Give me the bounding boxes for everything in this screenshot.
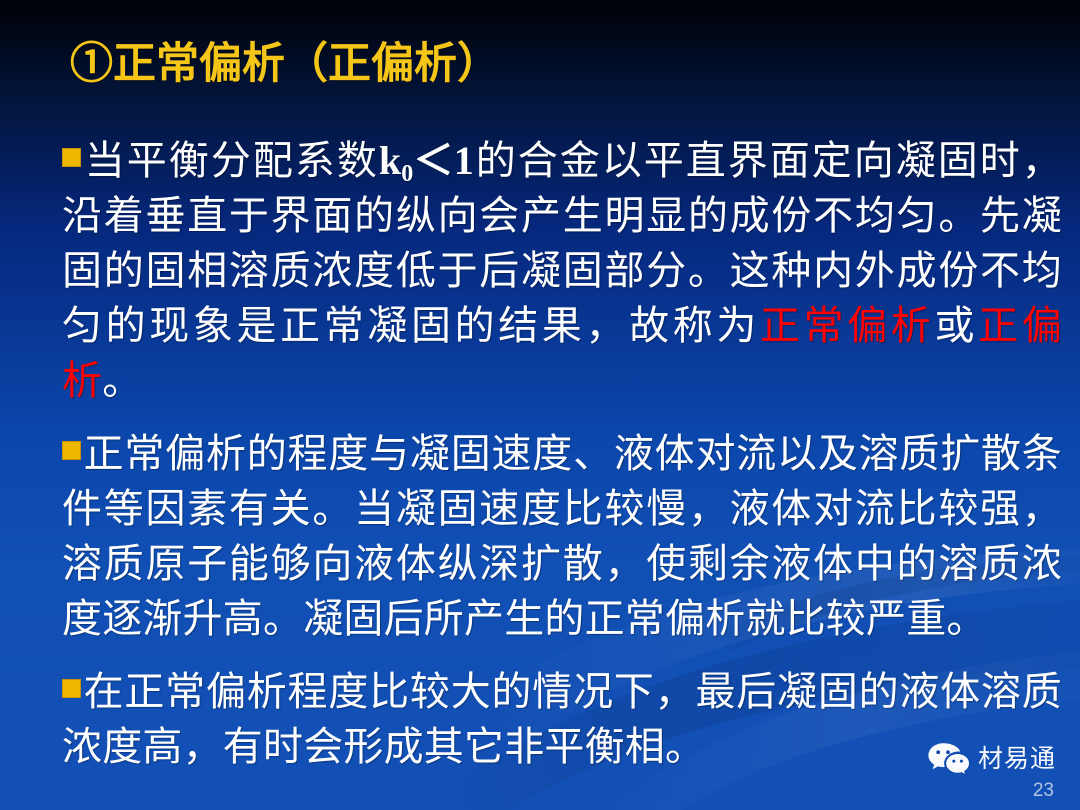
para1-run-0: 当平衡分配系数 [83,138,379,183]
para1-conjunction: 或 [935,303,979,348]
slide-body: 当平衡分配系数k0＜1的合金以平直界面定向凝固时，沿着垂直于界面的纵向会产生明显… [62,133,1062,774]
square-bullet-icon [62,441,81,460]
para3-text: 在正常偏析程度比较大的情况下，最后凝固的液体溶质浓度高，有时会形成其它非平衡相。 [62,669,1062,769]
watermark: 材易通 [927,742,1056,776]
page-title: ①正常偏析（正偏析） [70,40,500,89]
square-bullet-icon [62,148,81,167]
para1-symbol-k-subscript: 0 [401,161,413,187]
bullet-paragraph-2: 正常偏析的程度与凝固速度、液体对流以及溶质扩散条件等因素有关。当凝固速度比较慢，… [62,426,1062,646]
para1-highlight-1: 正常偏析 [760,303,935,348]
square-bullet-icon [62,679,81,698]
bullet-paragraph-1: 当平衡分配系数k0＜1的合金以平直界面定向凝固时，沿着垂直于界面的纵向会产生明显… [62,133,1062,408]
para2-text: 正常偏析的程度与凝固速度、液体对流以及溶质扩散条件等因素有关。当凝固速度比较慢，… [62,431,1062,641]
bullet-paragraph-3: 在正常偏析程度比较大的情况下，最后凝固的液体溶质浓度高，有时会形成其它非平衡相。 [62,664,1062,774]
wechat-icon [927,742,971,776]
para1-symbol-k: k [379,138,401,183]
page-number: 23 [1033,780,1054,802]
watermark-label: 材易通 [978,747,1056,772]
para1-period: 。 [102,358,142,403]
slide-canvas: ①正常偏析（正偏析） 当平衡分配系数k0＜1的合金以平直界面定向凝固时，沿着垂直… [0,0,1080,810]
para1-inequality: ＜1 [414,138,474,183]
